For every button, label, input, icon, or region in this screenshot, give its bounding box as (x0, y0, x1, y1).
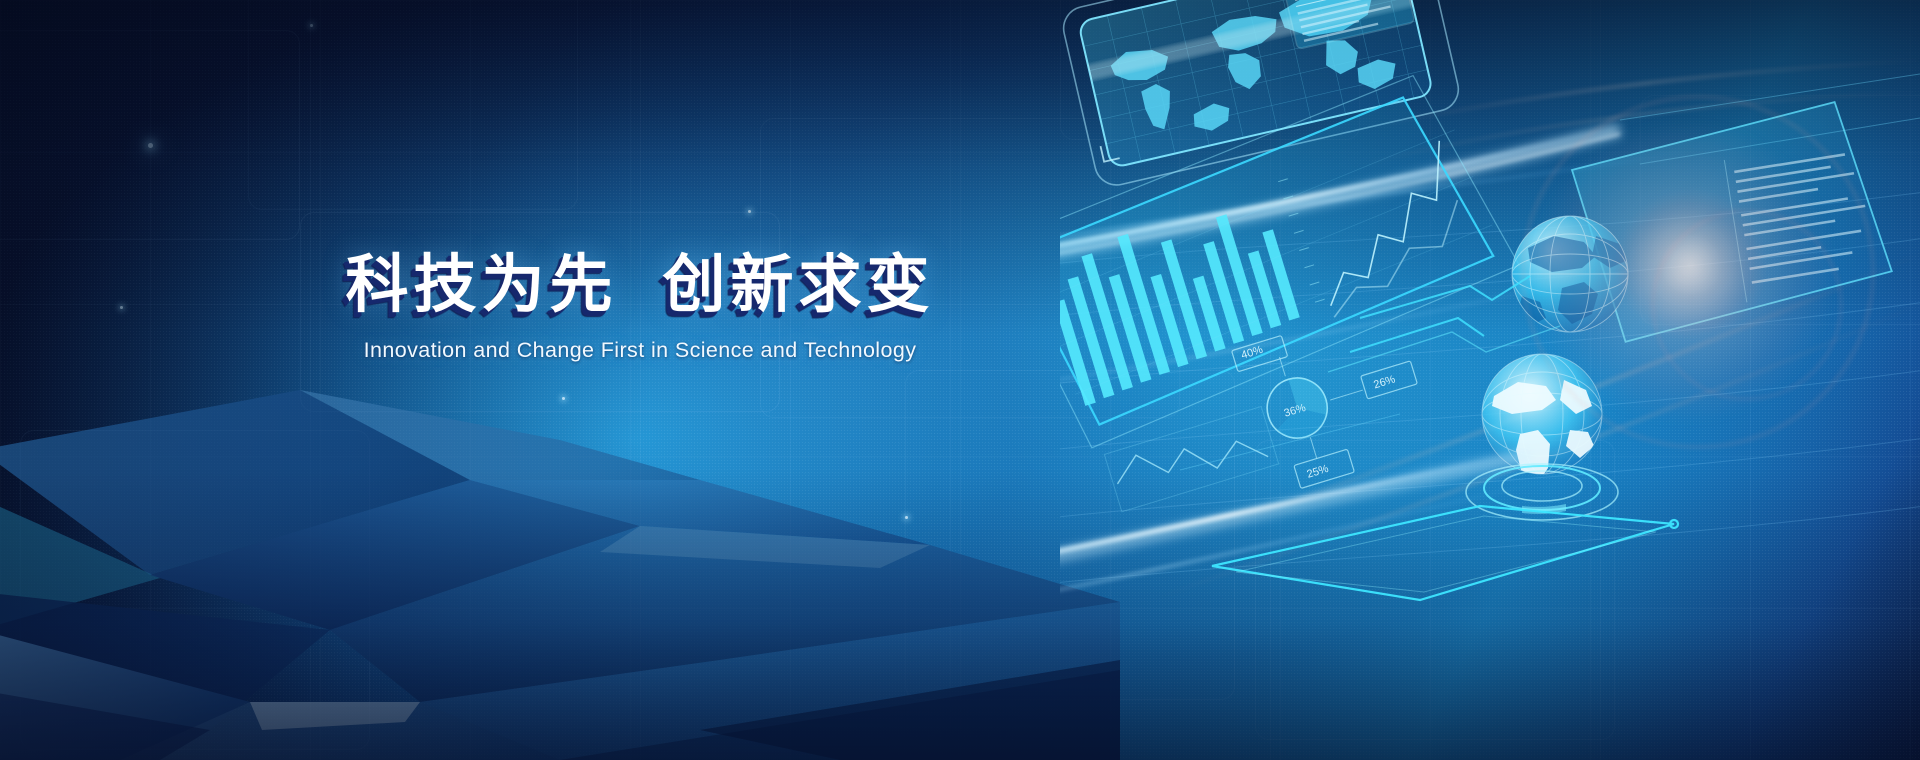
svg-text:25%: 25% (1305, 463, 1330, 481)
hero-copy-block: 科技为先 创新求变 Innovation and Change First in… (0, 248, 1280, 363)
hero-banner: ASIA (0, 0, 1920, 760)
page-title: 科技为先 创新求变 (0, 248, 1280, 322)
line-chart-secondary-icon (1104, 406, 1278, 511)
lens-flare-ring-icon (1652, 210, 1842, 400)
svg-text:26%: 26% (1372, 373, 1397, 391)
page-subtitle: Innovation and Change First in Science a… (0, 338, 1280, 363)
tech-graphics-cluster: ASIA (1060, 0, 1920, 760)
